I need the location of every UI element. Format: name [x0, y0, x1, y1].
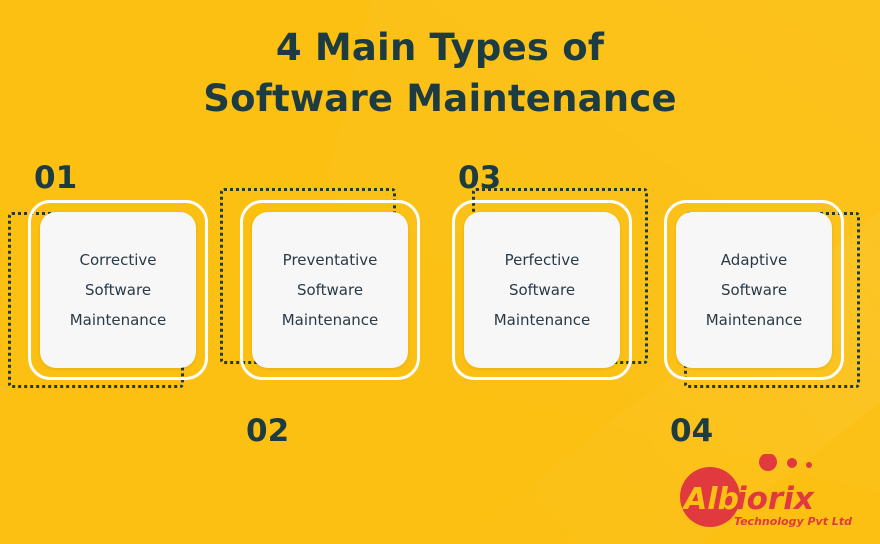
card-number-badge-1: 01 — [34, 163, 77, 194]
maintenance-type-card-3[interactable]: 03 Perfective Software Maintenance — [444, 155, 644, 420]
card-label-line-1a: Corrective — [79, 245, 156, 275]
maintenance-type-card-1[interactable]: 01 Corrective Software Maintenance — [20, 155, 220, 420]
card-frame-3: Perfective Software Maintenance — [444, 200, 636, 390]
page-title-line-2: Software Maintenance — [0, 73, 880, 124]
page-title-line-1: 4 Main Types of — [0, 22, 880, 73]
maintenance-type-card-2[interactable]: 02 Preventative Software Maintenance — [232, 185, 432, 450]
logo-dot-medium-icon — [787, 458, 797, 468]
card-body-2[interactable]: Preventative Software Maintenance — [252, 212, 408, 368]
logo-tagline: Technology Pvt Ltd — [734, 515, 852, 528]
infographic-poster: 4 Main Types of Software Maintenance 01 … — [0, 0, 880, 544]
card-label-line-2c: Maintenance — [282, 305, 379, 335]
card-label-line-2a: Preventative — [283, 245, 378, 275]
card-number-badge-4: 04 — [670, 416, 713, 447]
card-body-4[interactable]: Adaptive Software Maintenance — [676, 212, 832, 368]
card-label-line-4b: Software — [721, 275, 787, 305]
card-label-line-2b: Software — [297, 275, 363, 305]
card-number-badge-2: 02 — [246, 416, 289, 447]
card-frame-4: Adaptive Software Maintenance — [656, 200, 848, 390]
card-label-line-3a: Perfective — [505, 245, 580, 275]
page-title: 4 Main Types of Software Maintenance — [0, 22, 880, 124]
card-label-line-1b: Software — [85, 275, 151, 305]
card-frame-2: Preventative Software Maintenance — [232, 200, 424, 390]
card-label-line-3b: Software — [509, 275, 575, 305]
logo-mark-text: Alb — [682, 482, 739, 517]
card-label-line-4a: Adaptive — [721, 245, 787, 275]
card-frame-1: Corrective Software Maintenance — [20, 200, 212, 390]
maintenance-type-card-row: 01 Corrective Software Maintenance 02 Pr… — [0, 155, 880, 455]
maintenance-type-card-4[interactable]: 04 Adaptive Software Maintenance — [656, 185, 856, 450]
logo-dot-large-icon — [759, 454, 777, 471]
albiorix-logo[interactable]: Alb iorix Technology Pvt Ltd — [662, 454, 862, 534]
card-body-3[interactable]: Perfective Software Maintenance — [464, 212, 620, 368]
card-label-line-4c: Maintenance — [706, 305, 803, 335]
card-label-line-1c: Maintenance — [70, 305, 167, 335]
card-body-1[interactable]: Corrective Software Maintenance — [40, 212, 196, 368]
logo-dot-small-icon — [806, 462, 812, 468]
logo-word-text: iorix — [736, 481, 815, 517]
card-label-line-3c: Maintenance — [494, 305, 591, 335]
